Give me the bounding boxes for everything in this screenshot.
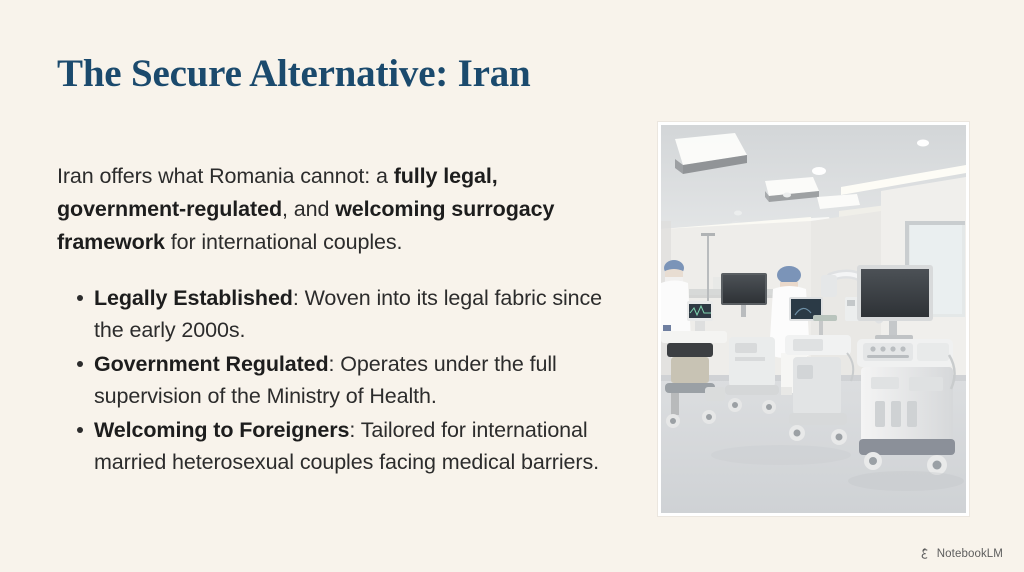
lead-paragraph: Iran offers what Romania cannot: a fully… bbox=[57, 160, 632, 259]
operating-room-illustration bbox=[661, 125, 966, 513]
list-item-term: Welcoming to Foreigners bbox=[94, 418, 349, 442]
lead-text-part-1: Iran offers what Romania cannot: a bbox=[57, 164, 394, 188]
content-column: Iran offers what Romania cannot: a fully… bbox=[57, 160, 632, 480]
list-item-term: Government Regulated bbox=[94, 352, 329, 376]
list-item: Legally Established: Woven into its lega… bbox=[57, 282, 632, 346]
notebooklm-spark-icon bbox=[919, 547, 932, 560]
list-item-separator: : bbox=[329, 352, 341, 376]
slide-image-frame bbox=[658, 122, 969, 516]
list-item-term: Legally Established bbox=[94, 286, 293, 310]
bullet-dot-icon bbox=[77, 361, 83, 367]
hospital-operating-room-photo bbox=[661, 125, 966, 513]
ultrasound-machine-right bbox=[857, 339, 955, 475]
slide: The Secure Alternative: Iran Iran offers… bbox=[0, 0, 1024, 572]
list-item-separator: : bbox=[349, 418, 360, 442]
list-item: Welcoming to Foreigners: Tailored for in… bbox=[57, 414, 632, 478]
lead-text-part-3: for international couples. bbox=[165, 230, 403, 254]
notebooklm-watermark: NotebookLM bbox=[919, 547, 1003, 560]
list-item-separator: : bbox=[293, 286, 305, 310]
notebooklm-watermark-label: NotebookLM bbox=[937, 548, 1003, 560]
bullet-dot-icon bbox=[77, 295, 83, 301]
bullet-dot-icon bbox=[77, 427, 83, 433]
key-points-list: Legally Established: Woven into its lega… bbox=[57, 282, 632, 478]
list-item: Government Regulated: Operates under the… bbox=[57, 348, 632, 412]
page-title: The Secure Alternative: Iran bbox=[57, 51, 531, 97]
lead-text-part-2: , and bbox=[282, 197, 335, 221]
